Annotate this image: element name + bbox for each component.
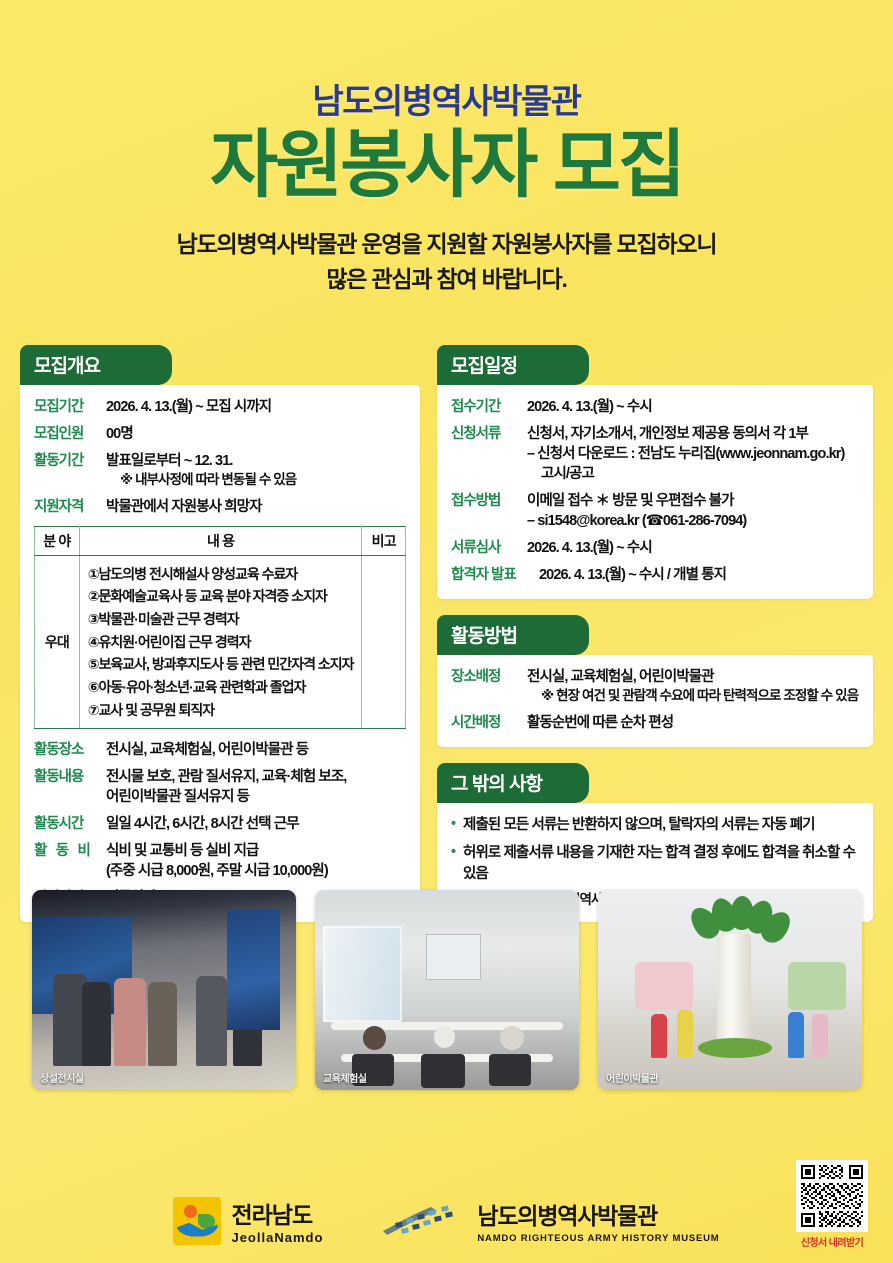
section-heading-method: 활동방법 bbox=[437, 615, 589, 655]
visitor-figure bbox=[148, 982, 177, 1066]
preference-item: ⑦교사 및 공무원 퇴직자 bbox=[88, 699, 354, 722]
jeollanamdo-logo: 전라남도 JeollaNamdo bbox=[173, 1196, 323, 1245]
preference-item: ②문화예술교육사 등 교육 분야 자격증 소지자 bbox=[88, 585, 354, 608]
schedule-row: 서류심사 2026. 4. 13.(월) ~ 수시 bbox=[451, 538, 859, 558]
preference-item: ⑤보육교사, 방과후지도사 등 관련 민간자격 소지자 bbox=[88, 653, 354, 676]
row-value: 신청서, 자기소개서, 개인정보 제공용 동의서 각 1부 bbox=[527, 424, 859, 444]
row-value: 활동순번에 따른 순차 편성 bbox=[527, 713, 859, 733]
card-activity-method: 활동방법 장소배정 전시실, 교육체험실, 어린이박물관 ※ 현장 여건 및 관… bbox=[437, 615, 873, 747]
left-column: 모집개요 모집기간 2026. 4. 13.(월) ~ 모집 시까지 모집인원 … bbox=[20, 345, 420, 938]
cell-content: ①남도의병 전시해설사 양성교육 수료자 ②문화예술교육사 등 교육 분야 자격… bbox=[79, 555, 362, 729]
row-label: 서류심사 bbox=[451, 538, 527, 558]
chair-shape bbox=[489, 1054, 531, 1086]
card-recruitment-schedule: 모집일정 접수기간 2026. 4. 13.(월) ~ 수시 신청서류 신청서,… bbox=[437, 345, 873, 599]
child-figure bbox=[677, 1010, 693, 1058]
overview-row: 모집기간 2026. 4. 13.(월) ~ 모집 시까지 bbox=[34, 397, 406, 417]
exhibition-hall-photo: 상설전시실 bbox=[32, 890, 296, 1090]
subtitle-line-2: 많은 관심과 참여 바랍니다. bbox=[0, 262, 893, 297]
schedule-row: 신청서류 신청서, 자기소개서, 개인정보 제공용 동의서 각 1부 – 신청서… bbox=[451, 424, 859, 484]
museum-flag-icon bbox=[381, 1201, 467, 1241]
jeollanamdo-wordmark: 전라남도 JeollaNamdo bbox=[231, 1196, 323, 1245]
jeollanamdo-name-kr: 전라남도 bbox=[231, 1196, 323, 1230]
row-value: 2026. 4. 13.(월) ~ 수시 bbox=[527, 538, 859, 558]
row-value: 전시실, 교육체험실, 어린이박물관 등 bbox=[106, 740, 406, 760]
row-value: 2026. 4. 13.(월) ~ 수시 bbox=[527, 397, 859, 417]
photo-caption: 교육체험실 bbox=[323, 1070, 367, 1085]
student-figure bbox=[500, 1026, 524, 1050]
organization-title: 남도의병역사박물관 bbox=[0, 84, 893, 121]
download-link[interactable]: – 신청서 다운로드 : 전남도 누리집(www.jeonnam.go.kr) bbox=[527, 444, 859, 464]
row-label: 모집기간 bbox=[34, 397, 106, 417]
row-value: 박물관에서 자원봉사 희망자 bbox=[106, 497, 406, 517]
table-row: 우대 ①남도의병 전시해설사 양성교육 수료자 ②문화예술교육사 등 교육 분야… bbox=[35, 555, 406, 729]
row-value: 전시물 보호, 관람 질서유지, 교육·체험 보조, bbox=[106, 767, 406, 787]
schedule-row: 합격자 발표 2026. 4. 13.(월) ~ 수시 / 개별 통지 bbox=[451, 565, 859, 585]
tree-base bbox=[698, 1038, 772, 1058]
row-label: 접수기간 bbox=[451, 397, 527, 417]
contact-email[interactable]: – si1548@korea.kr (☎061-286-7094) bbox=[527, 511, 859, 531]
row-value: 발표일로부터 ~ 12. 31. bbox=[106, 451, 406, 471]
row-value-group: 발표일로부터 ~ 12. 31. ※ 내부사정에 따라 변동될 수 있음 bbox=[106, 451, 406, 490]
row-value-cont: (주중 시급 8,000원, 주말 시급 10,000원) bbox=[106, 861, 406, 881]
schedule-body: 접수기간 2026. 4. 13.(월) ~ 수시 신청서류 신청서, 자기소개… bbox=[437, 385, 873, 599]
jeollanamdo-name-en: JeollaNamdo bbox=[231, 1230, 323, 1245]
photo-caption: 상설전시실 bbox=[40, 1070, 84, 1085]
overview-row: 활 동 비 식비 및 교통비 등 실비 지급 (주중 시급 8,000원, 주말… bbox=[34, 841, 406, 881]
qr-caption: 신청서 내려받기 bbox=[793, 1234, 871, 1249]
row-value: 식비 및 교통비 등 실비 지급 bbox=[106, 841, 406, 861]
qr-code-block[interactable]: 신청서 내려받기 bbox=[793, 1160, 871, 1249]
poster-footer: 전라남도 JeollaNamdo bbox=[0, 1196, 893, 1245]
row-label: 활동장소 bbox=[34, 740, 106, 760]
row-value-group: 이메일 접수 ＊ 방문 및 우편접수 불가 – si1548@korea.kr … bbox=[527, 491, 859, 531]
card-recruitment-overview: 모집개요 모집기간 2026. 4. 13.(월) ~ 모집 시까지 모집인원 … bbox=[20, 345, 420, 922]
overview-row: 지원자격 박물관에서 자원봉사 희망자 bbox=[34, 497, 406, 517]
row-label: 합격자 발표 bbox=[451, 565, 539, 585]
poster-header: 남도의병역사박물관 자원봉사자 모집 남도의병역사박물관 운영을 지원할 자원봉… bbox=[0, 0, 893, 296]
jeollanamdo-mark-icon bbox=[173, 1197, 221, 1245]
preference-table: 분 야 내 용 비고 우대 ①남도의병 전시해설사 양성교육 수료자 ②문화예술… bbox=[34, 526, 406, 730]
visitor-figure bbox=[82, 982, 111, 1066]
row-value-group: 전시물 보호, 관람 질서유지, 교육·체험 보조, 어린이박물관 질서유지 등 bbox=[106, 767, 406, 807]
row-value-cont: 어린이박물관 질서유지 등 bbox=[106, 787, 406, 807]
museum-logo: 남도의병역사박물관 NAMDO RIGHTEOUS ARMY HISTORY M… bbox=[381, 1197, 719, 1244]
photo-caption: 어린이박물관 bbox=[606, 1070, 658, 1085]
method-body: 장소배정 전시실, 교육체험실, 어린이박물관 ※ 현장 여건 및 관람객 수요… bbox=[437, 655, 873, 747]
column-header-content: 내 용 bbox=[79, 526, 362, 555]
row-value: 00명 bbox=[106, 424, 406, 444]
bullet-item: 허위로 제출서류 내용을 기재한 자는 합격 결정 후에도 합격을 취소할 수 … bbox=[451, 843, 859, 884]
row-label: 장소배정 bbox=[451, 667, 527, 706]
preference-item: ③박물관·미술관 근무 경력자 bbox=[88, 608, 354, 631]
page-title: 자원봉사자 모집 bbox=[0, 125, 893, 205]
museum-name-en: NAMDO RIGHTEOUS ARMY HISTORY MUSEUM bbox=[477, 1233, 719, 1244]
schedule-row: 접수기간 2026. 4. 13.(월) ~ 수시 bbox=[451, 397, 859, 417]
children-museum-photo: 어린이박물관 bbox=[598, 890, 862, 1090]
row-value-group: 신청서, 자기소개서, 개인정보 제공용 동의서 각 1부 – 신청서 다운로드… bbox=[527, 424, 859, 484]
museum-wordmark: 남도의병역사박물관 NAMDO RIGHTEOUS ARMY HISTORY M… bbox=[477, 1197, 719, 1244]
visitor-figure bbox=[114, 978, 146, 1066]
row-label: 시간배정 bbox=[451, 713, 527, 733]
row-label: 활동내용 bbox=[34, 767, 106, 807]
section-heading-schedule: 모집일정 bbox=[437, 345, 589, 385]
preference-item: ④유치원·어린이집 근무 경력자 bbox=[88, 631, 354, 654]
photo-strip: 상설전시실 교육체험실 어린이박물관 bbox=[32, 890, 862, 1090]
table-header-row: 분 야 내 용 비고 bbox=[35, 526, 406, 555]
overview-body: 모집기간 2026. 4. 13.(월) ~ 모집 시까지 모집인원 00명 활… bbox=[20, 385, 420, 922]
section-heading-overview: 모집개요 bbox=[20, 345, 172, 385]
row-value: 전시실, 교육체험실, 어린이박물관 bbox=[527, 667, 859, 687]
overview-row: 활동시간 일일 4시간, 6시간, 8시간 선택 근무 bbox=[34, 814, 406, 834]
preference-item: ⑥아동·유아·청소년·교육 관련학과 졸업자 bbox=[88, 676, 354, 699]
row-value-cont: 고시/공고 bbox=[527, 464, 859, 484]
child-figure bbox=[812, 1014, 828, 1058]
schedule-row: 접수방법 이메일 접수 ＊ 방문 및 우편접수 불가 – si1548@kore… bbox=[451, 491, 859, 531]
cell-field: 우대 bbox=[35, 555, 80, 729]
row-value-group: 식비 및 교통비 등 실비 지급 (주중 시급 8,000원, 주말 시급 10… bbox=[106, 841, 406, 881]
visitor-figure bbox=[196, 976, 228, 1066]
child-figure bbox=[651, 1014, 667, 1058]
method-row: 장소배정 전시실, 교육체험실, 어린이박물관 ※ 현장 여건 및 관람객 수요… bbox=[451, 667, 859, 706]
row-label: 접수방법 bbox=[451, 491, 527, 531]
bullet-item: 제출된 모든 서류는 반환하지 않으며, 탈락자의 서류는 자동 폐기 bbox=[451, 815, 859, 836]
row-value: 일일 4시간, 6시간, 8시간 선택 근무 bbox=[106, 814, 406, 834]
subtitle-line-1: 남도의병역사박물관 운영을 지원할 자원봉사자를 모집하오니 bbox=[0, 227, 893, 262]
preference-item: ①남도의병 전시해설사 양성교육 수료자 bbox=[88, 563, 354, 586]
content-panels: 모집개요 모집기간 2026. 4. 13.(월) ~ 모집 시까지 모집인원 … bbox=[20, 345, 873, 938]
overview-row: 활동기간 발표일로부터 ~ 12. 31. ※ 내부사정에 따라 변동될 수 있… bbox=[34, 451, 406, 490]
education-room-photo: 교육체험실 bbox=[315, 890, 579, 1090]
row-value: 2026. 4. 13.(월) ~ 수시 / 개별 통지 bbox=[539, 565, 859, 585]
row-label: 활동시간 bbox=[34, 814, 106, 834]
row-value: 2026. 4. 13.(월) ~ 모집 시까지 bbox=[106, 397, 406, 417]
pink-wall bbox=[635, 962, 693, 1010]
overview-row: 활동장소 전시실, 교육체험실, 어린이박물관 등 bbox=[34, 740, 406, 760]
column-header-field: 분 야 bbox=[35, 526, 80, 555]
row-note: ※ 내부사정에 따라 변동될 수 있음 bbox=[106, 471, 406, 490]
tree-trunk bbox=[717, 934, 751, 1046]
method-row: 시간배정 활동순번에 따른 순차 편성 bbox=[451, 713, 859, 733]
sun-icon bbox=[184, 1205, 197, 1218]
row-label: 지원자격 bbox=[34, 497, 106, 517]
museum-name-kr: 남도의병역사박물관 bbox=[477, 1197, 719, 1231]
column-header-remark: 비고 bbox=[362, 526, 406, 555]
student-figure bbox=[434, 1026, 455, 1048]
child-figure bbox=[788, 1012, 804, 1058]
overview-row: 모집인원 00명 bbox=[34, 424, 406, 444]
overview-row: 활동내용 전시물 보호, 관람 질서유지, 교육·체험 보조, 어린이박물관 질… bbox=[34, 767, 406, 807]
section-heading-other: 그 밖의 사항 bbox=[437, 763, 589, 803]
right-column: 모집일정 접수기간 2026. 4. 13.(월) ~ 수시 신청서류 신청서,… bbox=[437, 345, 873, 938]
row-value-group: 전시실, 교육체험실, 어린이박물관 ※ 현장 여건 및 관람객 수요에 따라 … bbox=[527, 667, 859, 706]
cell-remark bbox=[362, 555, 406, 729]
row-label: 활 동 비 bbox=[34, 841, 106, 881]
row-note: ※ 현장 여건 및 관람객 수요에 따라 탄력적으로 조정할 수 있음 bbox=[527, 687, 859, 706]
visitor-figure bbox=[233, 982, 262, 1066]
row-label: 모집인원 bbox=[34, 424, 106, 444]
row-label: 활동기간 bbox=[34, 451, 106, 490]
row-value: 이메일 접수 ＊ 방문 및 우편접수 불가 bbox=[527, 491, 859, 511]
row-label: 신청서류 bbox=[451, 424, 527, 484]
green-wall bbox=[788, 962, 846, 1010]
poster-subtitle: 남도의병역사박물관 운영을 지원할 자원봉사자를 모집하오니 많은 관심과 참여… bbox=[0, 227, 893, 296]
student-figure bbox=[363, 1026, 387, 1050]
qr-code-icon[interactable] bbox=[796, 1160, 868, 1232]
chair-shape bbox=[421, 1054, 466, 1088]
